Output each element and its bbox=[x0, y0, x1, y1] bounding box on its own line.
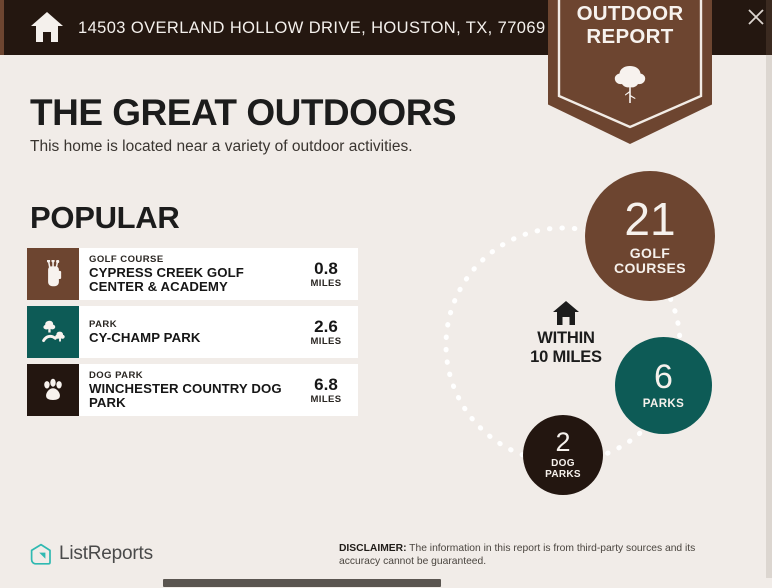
bubble-parks: 6 PARKS bbox=[615, 337, 712, 434]
listreports-house-icon bbox=[30, 543, 52, 565]
bubble-golf-value: 21 bbox=[624, 196, 675, 242]
bubble-dog-value: 2 bbox=[555, 429, 570, 456]
item-icon-tile bbox=[27, 248, 79, 300]
right-edge-top bbox=[766, 0, 772, 55]
diagram-center-label: WITHIN 10 MILES bbox=[506, 300, 626, 367]
list-item[interactable]: GOLF COURSE CYPRESS CREEK GOLF CENTER & … bbox=[27, 248, 358, 300]
item-distance-unit: MILES bbox=[302, 278, 350, 289]
bubble-parks-value: 6 bbox=[654, 360, 673, 394]
item-body: PARK CY-CHAMP PARK 2.6 MILES bbox=[79, 306, 358, 358]
item-body: GOLF COURSE CYPRESS CREEK GOLF CENTER & … bbox=[79, 248, 358, 300]
header-left-accent bbox=[0, 0, 4, 55]
badge-title: OUTDOOR REPORT bbox=[548, 2, 712, 48]
bubble-golf-label-line1: GOLF bbox=[614, 246, 686, 261]
item-name: CY-CHAMP PARK bbox=[89, 331, 302, 345]
home-icon bbox=[30, 11, 64, 43]
item-icon-tile bbox=[27, 306, 79, 358]
badge-title-line2: REPORT bbox=[548, 25, 712, 48]
popular-list: GOLF COURSE CYPRESS CREEK GOLF CENTER & … bbox=[27, 248, 358, 422]
item-body: DOG PARK WINCHESTER COUNTRY DOG PARK 6.8… bbox=[79, 364, 358, 416]
item-distance: 0.8 MILES bbox=[302, 259, 354, 289]
item-distance-value: 6.8 bbox=[302, 375, 350, 394]
tree-icon bbox=[612, 64, 648, 104]
diagram-center-line1: WITHIN bbox=[506, 329, 626, 348]
item-distance-value: 0.8 bbox=[302, 259, 350, 278]
bubble-golf-label-line2: COURSES bbox=[614, 261, 686, 276]
horizontal-scrollbar-thumb[interactable] bbox=[163, 579, 441, 587]
bubble-parks-label: PARKS bbox=[643, 398, 684, 410]
paw-print-icon bbox=[40, 377, 66, 403]
bubble-dog-parks: 2 DOG PARKS bbox=[523, 415, 603, 495]
item-distance-unit: MILES bbox=[302, 394, 350, 405]
listreports-logo[interactable]: ListReports bbox=[30, 543, 153, 565]
property-address: 14503 OVERLAND HOLLOW DRIVE, HOUSTON, TX… bbox=[78, 19, 546, 38]
item-distance-value: 2.6 bbox=[302, 317, 350, 336]
item-distance-unit: MILES bbox=[302, 336, 350, 347]
badge-title-line1: OUTDOOR bbox=[548, 2, 712, 25]
outdoor-report-badge: OUTDOOR REPORT bbox=[548, 0, 712, 144]
right-edge-strip bbox=[766, 55, 772, 588]
diagram-center-line2: 10 MILES bbox=[506, 348, 626, 367]
bubble-dog-label-line2: PARKS bbox=[545, 470, 581, 481]
bubble-dog-label: DOG PARKS bbox=[545, 459, 581, 481]
item-icon-tile bbox=[27, 364, 79, 416]
park-trees-icon bbox=[40, 319, 67, 346]
item-distance: 2.6 MILES bbox=[302, 317, 354, 347]
bubble-golf-courses: 21 GOLF COURSES bbox=[585, 171, 715, 301]
item-text: DOG PARK WINCHESTER COUNTRY DOG PARK bbox=[89, 370, 302, 410]
section-title-popular: POPULAR bbox=[30, 200, 179, 236]
disclaimer-label: DISCLAIMER: bbox=[339, 543, 407, 554]
list-item[interactable]: DOG PARK WINCHESTER COUNTRY DOG PARK 6.8… bbox=[27, 364, 358, 416]
list-item[interactable]: PARK CY-CHAMP PARK 2.6 MILES bbox=[27, 306, 358, 358]
listreports-logo-text: ListReports bbox=[59, 543, 153, 565]
page-title: THE GREAT OUTDOORS bbox=[30, 92, 456, 134]
bubble-golf-label: GOLF COURSES bbox=[614, 246, 686, 276]
item-distance: 6.8 MILES bbox=[302, 375, 354, 405]
close-icon[interactable] bbox=[744, 5, 768, 29]
item-text: PARK CY-CHAMP PARK bbox=[89, 319, 302, 345]
amenities-bubble-chart: 21 GOLF COURSES 6 PARKS 2 DOG PARKS WITH bbox=[420, 160, 772, 520]
disclaimer: DISCLAIMER: The information in this repo… bbox=[339, 543, 739, 568]
page-subtitle: This home is located near a variety of o… bbox=[30, 138, 413, 156]
item-name: CYPRESS CREEK GOLF CENTER & ACADEMY bbox=[89, 266, 302, 294]
outdoor-report-page: 14503 OVERLAND HOLLOW DRIVE, HOUSTON, TX… bbox=[0, 0, 772, 588]
golf-bag-icon bbox=[40, 260, 67, 289]
item-name: WINCHESTER COUNTRY DOG PARK bbox=[89, 382, 302, 410]
item-text: GOLF COURSE CYPRESS CREEK GOLF CENTER & … bbox=[89, 254, 302, 294]
home-icon bbox=[552, 300, 580, 326]
